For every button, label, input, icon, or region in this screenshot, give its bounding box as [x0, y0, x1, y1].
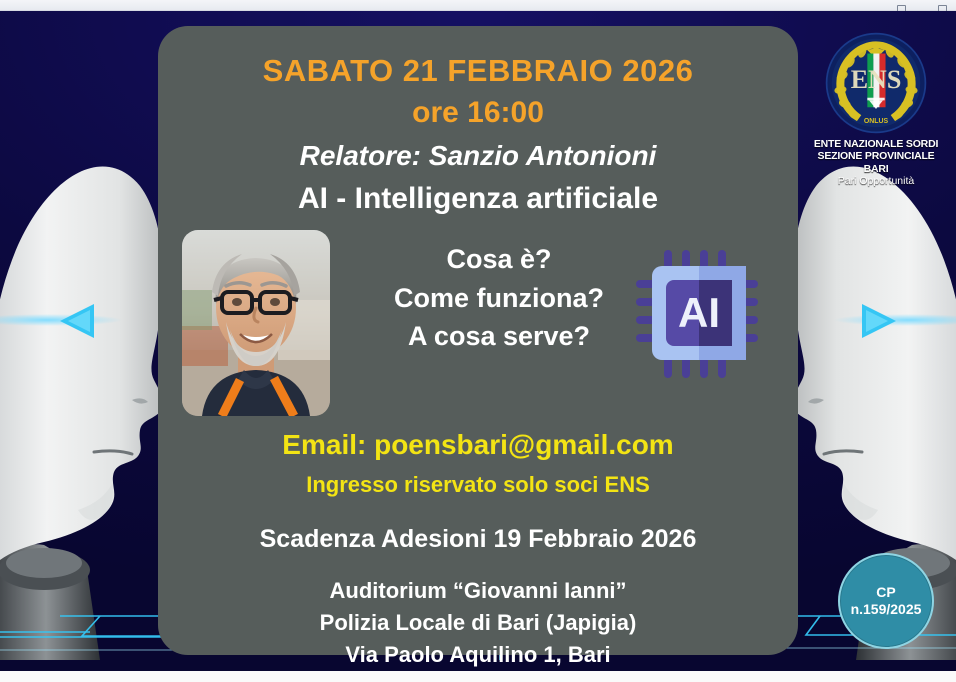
- cp-badge-title: CP: [876, 584, 895, 601]
- ens-line-2: SEZIONE PROVINCIALE BARI: [810, 150, 942, 175]
- cp-badge: CP n.159/2025: [838, 553, 934, 649]
- event-speaker: Relatore: Sanzio Antonioni: [176, 139, 780, 173]
- registration-deadline: Scadenza Adesioni 19 Febbraio 2026: [176, 524, 780, 554]
- minimize-icon[interactable]: [853, 0, 868, 11]
- speaker-photo: [182, 230, 330, 416]
- members-only-note: Ingresso riservato solo soci ENS: [176, 471, 780, 499]
- venue-line-1: Auditorium “Giovanni Ianni”: [176, 575, 780, 607]
- event-topic: AI - Intelligenza artificiale: [176, 181, 780, 217]
- ens-line-1: ENTE NAZIONALE SORDI: [810, 138, 942, 150]
- cp-badge-number: n.159/2025: [851, 601, 922, 618]
- ai-chip-label: AI: [678, 289, 720, 336]
- venue-line-2: Polizia Locale di Bari (Japigia): [176, 607, 780, 639]
- question-2: Come funziona?: [344, 279, 654, 317]
- question-1: Cosa è?: [344, 240, 654, 278]
- content-card: SABATO 21 FEBBRAIO 2026 ore 16:00 Relato…: [158, 26, 798, 655]
- poster-root: ENS ONLUS ENTE NAZIONALE SORDI SEZIONE P…: [0, 0, 956, 682]
- speaker-photo-image: [182, 230, 330, 416]
- contact-email: Email: poensbari@gmail.com: [176, 428, 780, 462]
- event-time: ore 16:00: [176, 95, 780, 131]
- event-date: SABATO 21 FEBBRAIO 2026: [176, 53, 780, 89]
- window-titlebar: [0, 0, 956, 11]
- ens-logo: ENS ONLUS ENTE NAZIONALE SORDI SEZIONE P…: [810, 31, 942, 188]
- question-3: A cosa serve?: [344, 317, 654, 355]
- ens-onlus-label: ONLUS: [864, 118, 889, 125]
- venue-block: Auditorium “Giovanni Ianni” Polizia Loca…: [176, 575, 780, 670]
- ens-seal-icon: ENS ONLUS: [824, 31, 928, 135]
- svg-text:ENS: ENS: [851, 65, 902, 94]
- questions-block: Cosa è? Come funziona? A cosa serve?: [344, 240, 654, 355]
- window-controls[interactable]: [853, 0, 950, 11]
- close-icon[interactable]: [935, 0, 950, 11]
- ai-chip-icon: AI: [634, 244, 764, 384]
- maximize-icon[interactable]: [894, 0, 909, 11]
- middle-row: Cosa è? Come funziona? A cosa serve?: [176, 230, 780, 416]
- venue-line-3: Via Paolo Aquilino 1, Bari: [176, 639, 780, 671]
- ens-line-3: Pari Opportunità: [810, 175, 942, 188]
- bottom-strip: [0, 671, 956, 682]
